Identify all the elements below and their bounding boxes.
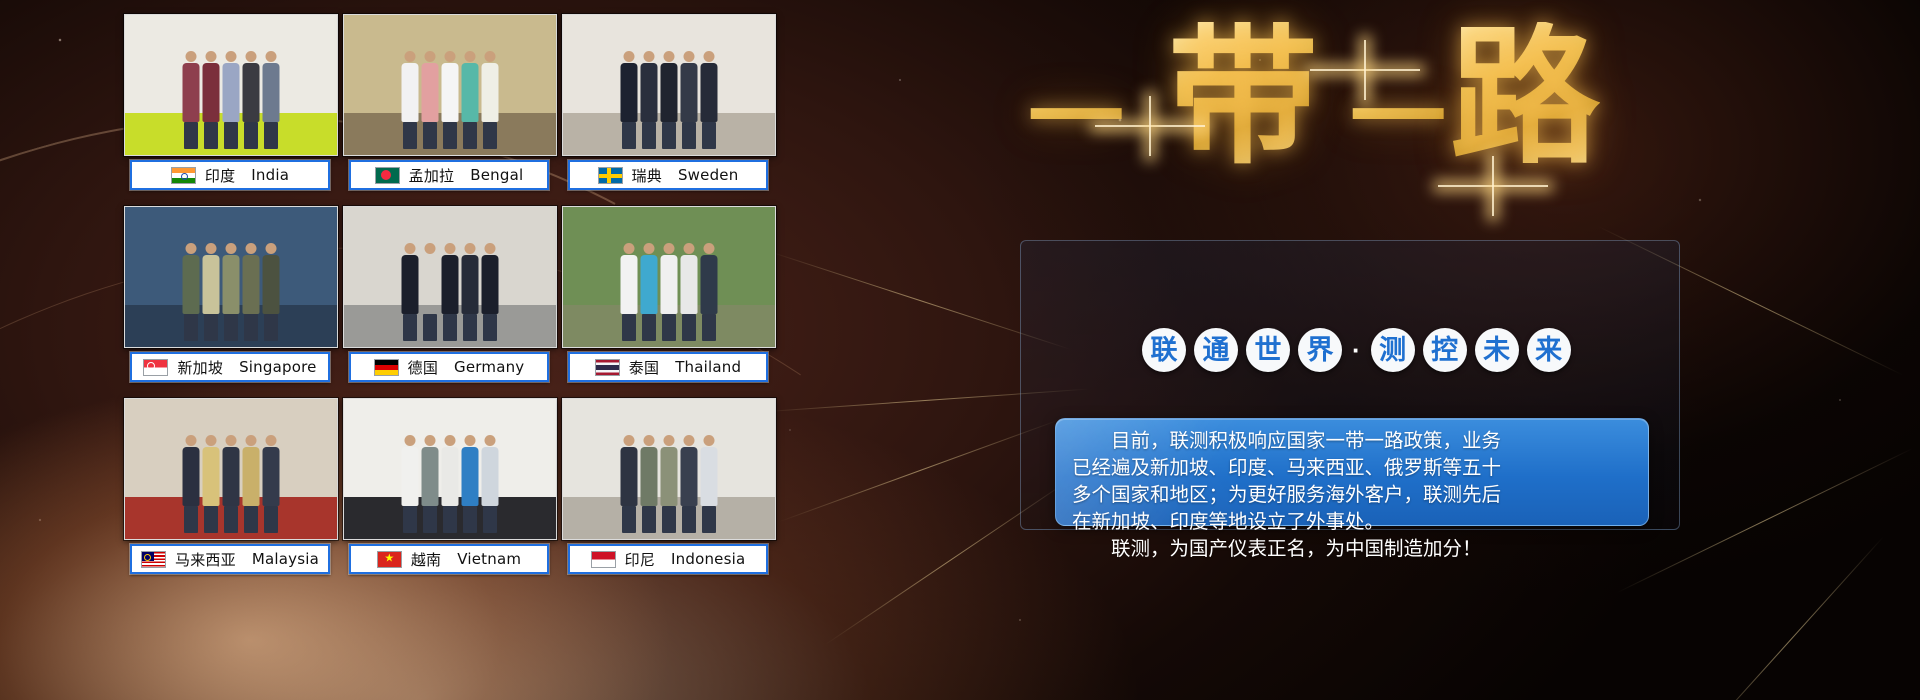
country-photo — [124, 206, 338, 348]
country-name: 马来西亚 — [175, 549, 236, 570]
person-figure — [402, 435, 419, 533]
country-label: 马来西亚Malaysia — [130, 544, 330, 574]
country-label: 印尼Indonesia — [568, 544, 768, 574]
person-figure — [203, 51, 220, 149]
person-figure — [203, 435, 220, 533]
person-figure — [701, 51, 718, 149]
country-label: 越南Vietnam — [349, 544, 549, 574]
country-name-en: Sweden — [678, 166, 738, 184]
country-card[interactable]: 越南Vietnam — [343, 398, 555, 584]
person-figure — [243, 51, 260, 149]
country-card[interactable]: 新加坡Singapore — [124, 206, 336, 392]
slogan-badge: 通 — [1194, 328, 1238, 372]
country-photo — [343, 14, 557, 156]
country-photo — [562, 14, 776, 156]
person-figure — [442, 243, 459, 341]
flag-malaysia-icon — [141, 551, 166, 568]
photo-people — [344, 435, 556, 533]
calligraphy-char-4: 路 — [1450, 22, 1600, 172]
country-label: 新加坡Singapore — [130, 352, 330, 382]
country-photo-grid: 印度India孟加拉Bengal瑞典Sweden新加坡Singapore德国Ge… — [124, 14, 774, 590]
country-label: 泰国Thailand — [568, 352, 768, 382]
person-figure — [462, 243, 479, 341]
country-photo — [343, 206, 557, 348]
calligraphy-char-3: 一 — [1350, 70, 1446, 166]
country-name: 越南 — [411, 549, 441, 570]
person-figure — [641, 243, 658, 341]
country-name-en: Vietnam — [457, 550, 521, 568]
slogan-badge: 界 — [1298, 328, 1342, 372]
slogan-separator: · — [1350, 337, 1363, 363]
description-line: 已经遍及新加坡、印度、马来西亚、俄罗斯等五十 — [1072, 455, 1632, 482]
photo-people — [125, 435, 337, 533]
flag-thailand-icon — [595, 359, 620, 376]
person-figure — [402, 243, 419, 341]
network-line — [1696, 536, 1884, 700]
person-figure — [183, 51, 200, 149]
person-figure — [462, 51, 479, 149]
country-card[interactable]: 马来西亚Malaysia — [124, 398, 336, 584]
photo-people — [344, 243, 556, 341]
country-name: 泰国 — [629, 357, 659, 378]
country-photo — [124, 398, 338, 540]
person-figure — [621, 435, 638, 533]
person-figure — [243, 435, 260, 533]
person-figure — [223, 435, 240, 533]
country-name-en: Singapore — [239, 358, 316, 376]
flag-germany-icon — [374, 359, 399, 376]
country-name: 德国 — [408, 357, 438, 378]
country-name: 印度 — [205, 165, 235, 186]
photo-people — [344, 51, 556, 149]
person-figure — [482, 435, 499, 533]
country-card[interactable]: 瑞典Sweden — [562, 14, 774, 200]
person-figure — [183, 435, 200, 533]
description-line: 在新加坡、印度等地设立了外事处。 — [1072, 509, 1632, 536]
slogan-badge: 世 — [1246, 328, 1290, 372]
country-label: 瑞典Sweden — [568, 160, 768, 190]
country-name-en: Malaysia — [252, 550, 319, 568]
person-figure — [203, 243, 220, 341]
person-figure — [422, 243, 439, 341]
person-figure — [263, 435, 280, 533]
person-figure — [681, 243, 698, 341]
person-figure — [462, 435, 479, 533]
person-figure — [482, 243, 499, 341]
country-name-en: Indonesia — [671, 550, 745, 568]
country-photo — [562, 398, 776, 540]
person-figure — [641, 51, 658, 149]
country-card[interactable]: 德国Germany — [343, 206, 555, 392]
person-figure — [701, 435, 718, 533]
country-name: 印尼 — [625, 549, 655, 570]
flag-singapore-icon — [143, 359, 168, 376]
flag-bangladesh-icon — [375, 167, 400, 184]
person-figure — [223, 51, 240, 149]
country-label: 德国Germany — [349, 352, 549, 382]
country-label: 孟加拉Bengal — [349, 160, 549, 190]
person-figure — [681, 435, 698, 533]
country-photo — [124, 14, 338, 156]
description-line: 联测，为国产仪表正名，为中国制造加分！ — [1072, 536, 1632, 563]
photo-people — [563, 51, 775, 149]
flag-indonesia-icon — [591, 551, 616, 568]
flag-india-icon — [171, 167, 196, 184]
country-name: 孟加拉 — [409, 165, 455, 186]
slogan-badge: 控 — [1423, 328, 1467, 372]
calligraphy-title: 一 带 一 路 — [1020, 8, 1540, 218]
person-figure — [422, 435, 439, 533]
photo-people — [125, 243, 337, 341]
slogan-badge: 测 — [1371, 328, 1415, 372]
country-name-en: Thailand — [675, 358, 741, 376]
country-card[interactable]: 印度India — [124, 14, 336, 200]
person-figure — [681, 51, 698, 149]
person-figure — [701, 243, 718, 341]
network-line — [779, 419, 1061, 523]
flag-vietnam-icon — [377, 551, 402, 568]
photo-people — [125, 51, 337, 149]
description-line: 多个国家和地区；为更好服务海外客户，联测先后 — [1072, 482, 1632, 509]
description-line: 目前，联测积极响应国家一带一路政策，业务 — [1072, 428, 1632, 455]
country-name-en: Bengal — [470, 166, 523, 184]
country-name-en: India — [251, 166, 289, 184]
person-figure — [641, 435, 658, 533]
country-photo — [562, 206, 776, 348]
country-name-en: Germany — [454, 358, 524, 376]
person-figure — [422, 51, 439, 149]
person-figure — [183, 243, 200, 341]
description-box: 目前，联测积极响应国家一带一路政策，业务 已经遍及新加坡、印度、马来西亚、俄罗斯… — [1055, 418, 1649, 526]
person-figure — [263, 51, 280, 149]
calligraphy-char-2: 带 — [1168, 22, 1318, 172]
country-name: 新加坡 — [177, 357, 223, 378]
banner-stage: 印度India孟加拉Bengal瑞典Sweden新加坡Singapore德国Ge… — [0, 0, 1920, 700]
person-figure — [243, 243, 260, 341]
person-figure — [263, 243, 280, 341]
person-figure — [621, 51, 638, 149]
person-figure — [621, 243, 638, 341]
person-figure — [223, 243, 240, 341]
country-card[interactable]: 印尼Indonesia — [562, 398, 774, 584]
person-figure — [402, 51, 419, 149]
person-figure — [661, 243, 678, 341]
person-figure — [661, 51, 678, 149]
slogan-badges: 联通世界·测控未来 — [1142, 328, 1571, 372]
person-figure — [442, 435, 459, 533]
person-figure — [442, 51, 459, 149]
person-figure — [482, 51, 499, 149]
country-label: 印度India — [130, 160, 330, 190]
country-card[interactable]: 孟加拉Bengal — [343, 14, 555, 200]
person-figure — [661, 435, 678, 533]
calligraphy-char-1: 一 — [1028, 70, 1124, 166]
slogan-badge: 来 — [1527, 328, 1571, 372]
country-name: 瑞典 — [632, 165, 662, 186]
photo-people — [563, 435, 775, 533]
country-photo — [343, 398, 557, 540]
photo-people — [563, 243, 775, 341]
country-card[interactable]: 泰国Thailand — [562, 206, 774, 392]
flag-sweden-icon — [598, 167, 623, 184]
slogan-badge: 未 — [1475, 328, 1519, 372]
slogan-badge: 联 — [1142, 328, 1186, 372]
